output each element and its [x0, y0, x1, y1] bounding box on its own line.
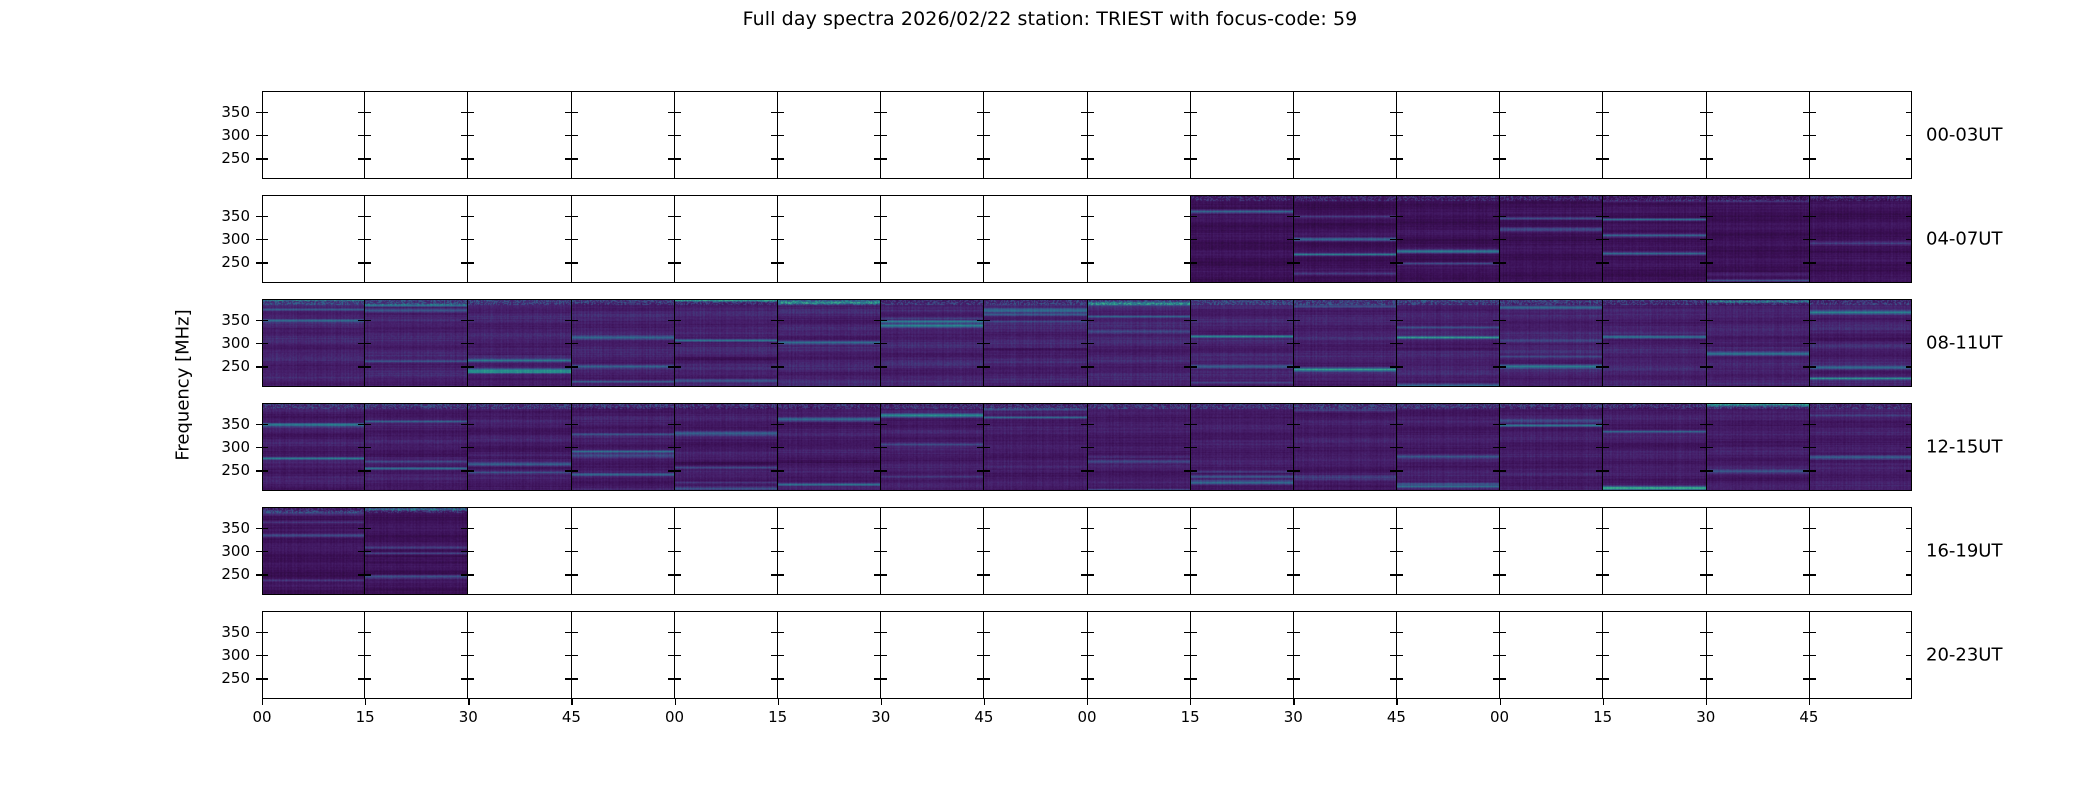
x-tick-label: 00	[655, 708, 695, 726]
spectrogram-row-20-23ut	[262, 611, 1912, 699]
y-tick-label: 300	[210, 230, 250, 248]
x-tick-label: 00	[242, 708, 282, 726]
y-tick-mark	[256, 528, 262, 529]
x-tick-label: 15	[758, 708, 798, 726]
x-tick-label: 00	[1067, 708, 1107, 726]
figure-title: Full day spectra 2026/02/22 station: TRI…	[0, 8, 2100, 30]
y-tick-mark	[256, 678, 262, 679]
x-tick-mark	[1809, 699, 1810, 705]
panel-border	[262, 611, 1912, 699]
y-tick-label: 250	[210, 565, 250, 583]
y-tick-mark	[256, 320, 262, 321]
y-tick-label: 350	[210, 103, 250, 121]
spectrogram-row-00-03ut	[262, 91, 1912, 179]
y-tick-label: 350	[210, 623, 250, 641]
x-tick-label: 30	[1273, 708, 1313, 726]
x-tick-label: 30	[448, 708, 488, 726]
x-tick-mark	[571, 699, 572, 705]
y-tick-mark	[256, 343, 262, 344]
x-tick-label: 30	[861, 708, 901, 726]
x-tick-mark	[778, 699, 779, 705]
panel-border	[262, 195, 1912, 283]
x-tick-label: 00	[1480, 708, 1520, 726]
y-tick-label: 250	[210, 357, 250, 375]
y-tick-label: 250	[210, 669, 250, 687]
x-tick-mark	[468, 699, 469, 705]
row-time-label: 00-03UT	[1926, 125, 2002, 146]
x-tick-label: 15	[1170, 708, 1210, 726]
x-tick-mark	[1087, 699, 1088, 705]
x-tick-mark	[1396, 699, 1397, 705]
y-tick-label: 350	[210, 519, 250, 537]
x-tick-label: 45	[551, 708, 591, 726]
x-tick-mark	[881, 699, 882, 705]
x-tick-label: 15	[345, 708, 385, 726]
spectrogram-row-12-15ut	[262, 403, 1912, 491]
row-time-label: 04-07UT	[1926, 229, 2002, 250]
y-tick-mark	[256, 470, 262, 471]
y-tick-mark	[256, 216, 262, 217]
y-tick-label: 300	[210, 542, 250, 560]
y-tick-label: 350	[210, 415, 250, 433]
x-tick-mark	[1293, 699, 1294, 705]
spectrogram-row-04-07ut	[262, 195, 1912, 283]
x-tick-label: 30	[1686, 708, 1726, 726]
y-tick-mark	[256, 239, 262, 240]
y-tick-mark	[256, 135, 262, 136]
x-tick-mark	[1603, 699, 1604, 705]
x-tick-label: 45	[1789, 708, 1829, 726]
y-tick-label: 350	[210, 311, 250, 329]
y-tick-label: 300	[210, 438, 250, 456]
y-tick-mark	[256, 447, 262, 448]
row-time-label: 08-11UT	[1926, 333, 2002, 354]
x-tick-mark	[365, 699, 366, 705]
row-time-label: 16-19UT	[1926, 541, 2002, 562]
panel-border	[262, 507, 1912, 595]
y-tick-mark	[256, 112, 262, 113]
y-axis-label: Frequency [MHz]	[173, 309, 194, 460]
spectrogram-row-08-11ut	[262, 299, 1912, 387]
y-tick-mark	[256, 424, 262, 425]
x-tick-mark	[675, 699, 676, 705]
y-tick-mark	[256, 655, 262, 656]
x-tick-label: 45	[964, 708, 1004, 726]
x-tick-mark	[984, 699, 985, 705]
y-tick-label: 250	[210, 253, 250, 271]
y-tick-mark	[256, 551, 262, 552]
y-tick-label: 300	[210, 126, 250, 144]
x-tick-mark	[1190, 699, 1191, 705]
y-tick-label: 250	[210, 461, 250, 479]
panel-border	[262, 299, 1912, 387]
y-tick-label: 250	[210, 149, 250, 167]
y-tick-mark	[256, 574, 262, 575]
spectrogram-row-16-19ut	[262, 507, 1912, 595]
row-time-label: 12-15UT	[1926, 437, 2002, 458]
panel-border	[262, 91, 1912, 179]
y-tick-mark	[256, 262, 262, 263]
y-tick-mark	[256, 632, 262, 633]
panel-border	[262, 403, 1912, 491]
x-tick-label: 15	[1583, 708, 1623, 726]
row-time-label: 20-23UT	[1926, 645, 2002, 666]
x-tick-mark	[1500, 699, 1501, 705]
x-tick-mark	[262, 699, 263, 705]
y-tick-mark	[256, 366, 262, 367]
y-tick-label: 300	[210, 646, 250, 664]
spectrogram-figure: Full day spectra 2026/02/22 station: TRI…	[0, 0, 2100, 800]
x-tick-mark	[1706, 699, 1707, 705]
y-tick-mark	[256, 158, 262, 159]
y-tick-label: 300	[210, 334, 250, 352]
x-tick-label: 45	[1376, 708, 1416, 726]
y-tick-label: 350	[210, 207, 250, 225]
